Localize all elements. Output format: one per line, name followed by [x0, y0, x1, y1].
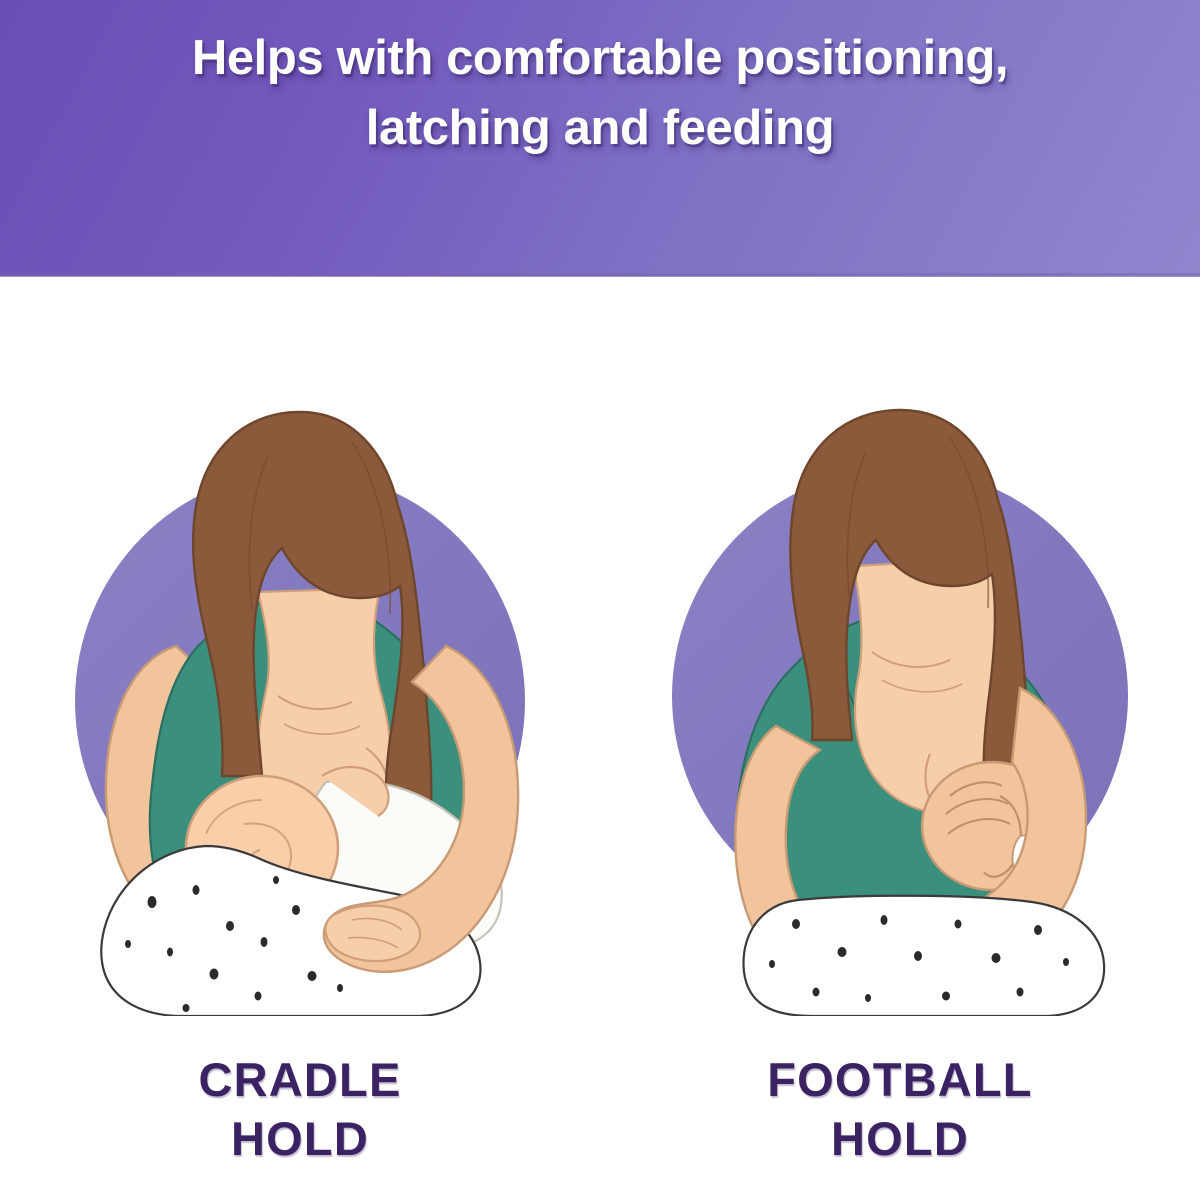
- cradle-hold-illustration: [0, 396, 600, 1016]
- header-banner: Helps with comfortable positioning, latc…: [0, 0, 1200, 276]
- caption-football-hold: FOOTBALL HOLD: [600, 1051, 1200, 1169]
- illustration-panels: CRADLE HOLD: [0, 276, 1200, 1200]
- nursing-pillow: [743, 896, 1104, 1016]
- panel-football-hold: FOOTBALL HOLD: [600, 276, 1200, 1200]
- football-hold-illustration: [600, 396, 1200, 1016]
- header-title: Helps with comfortable positioning, latc…: [0, 24, 1200, 163]
- pillow-body: [743, 896, 1104, 1016]
- caption-cradle-hold: CRADLE HOLD: [0, 1051, 600, 1169]
- panel-cradle-hold: CRADLE HOLD: [0, 276, 600, 1200]
- mother-hand: [325, 906, 420, 962]
